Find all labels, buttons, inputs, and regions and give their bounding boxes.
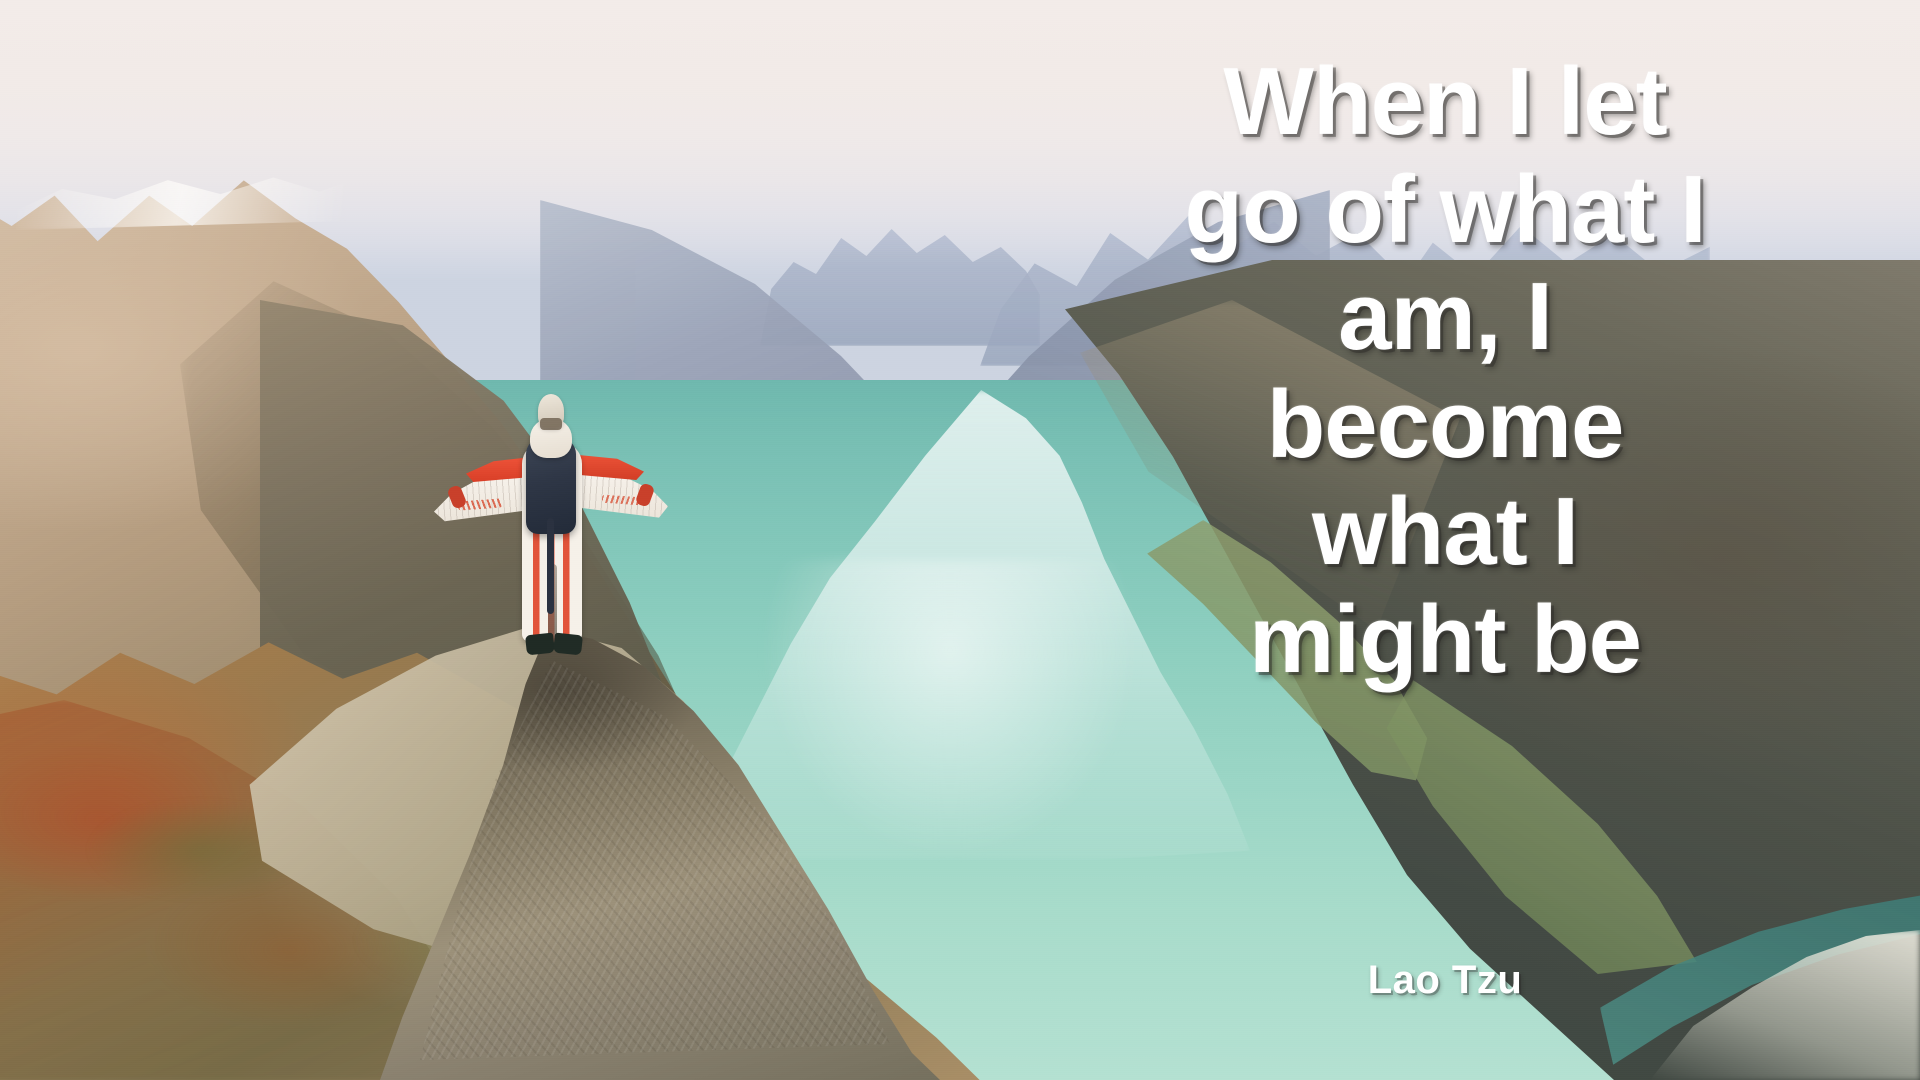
helmet-band [540,418,562,430]
quote-line-2: go of what I [1115,156,1775,264]
jumper-boot-left [525,633,555,656]
quote-line-3: am, I [1115,263,1775,371]
quote-line-4: become [1115,371,1775,479]
backpack-strap [547,518,554,614]
quote-line-5: what I [1115,478,1775,586]
quote-text-block: When I let go of what I am, I become wha… [1115,48,1775,693]
quote-image-canvas: When I let go of what I am, I become wha… [0,0,1920,1080]
quote-line-1: When I let [1115,48,1775,156]
quote-author: Lao Tzu [1115,958,1775,1003]
jumper-boot-right [553,633,583,656]
wingsuit-jumper [430,368,670,658]
water-reflection-glow [760,560,1140,860]
quote-line-6: might be [1115,586,1775,694]
